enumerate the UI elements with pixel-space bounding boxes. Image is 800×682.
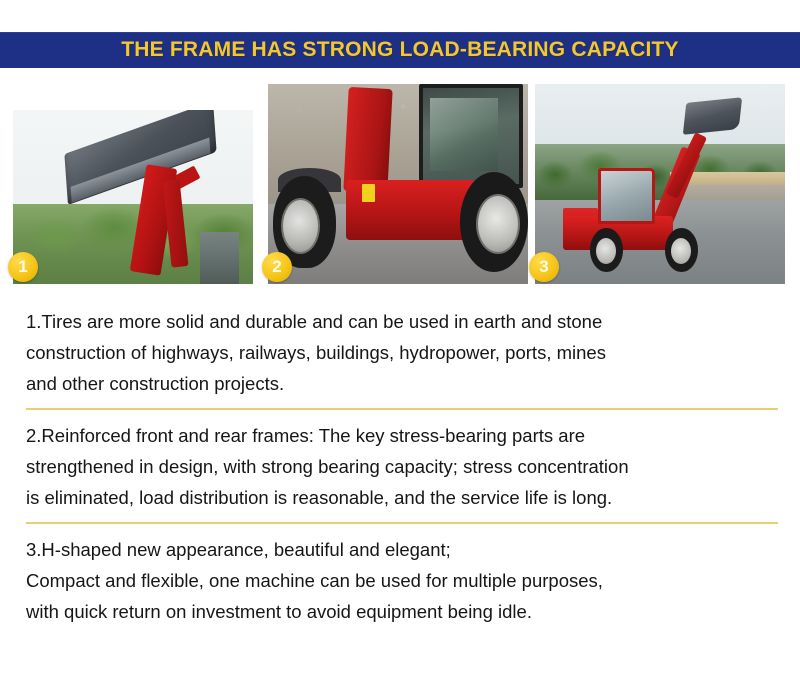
feature-line: 2.Reinforced front and rear frames: The … xyxy=(26,420,776,451)
photo-badge-3: 3 xyxy=(529,252,559,282)
photo3-bucket xyxy=(683,97,742,135)
product-photo-1 xyxy=(13,110,253,284)
feature-paragraph-tires: 1.Tires are more solid and durable and c… xyxy=(0,306,800,399)
photo2-rear-rim xyxy=(476,194,520,254)
product-photo-2 xyxy=(268,84,528,284)
page-title: THE FRAME HAS STRONG LOAD-BEARING CAPACI… xyxy=(121,38,679,62)
feature-paragraph-frames: 2.Reinforced front and rear frames: The … xyxy=(0,420,800,513)
photo2-front-rim xyxy=(281,198,320,254)
feature-line: construction of highways, railways, buil… xyxy=(26,337,776,368)
feature-line: with quick return on investment to avoid… xyxy=(26,596,776,627)
header-banner: THE FRAME HAS STRONG LOAD-BEARING CAPACI… xyxy=(0,32,800,68)
feature-line: Compact and flexible, one machine can be… xyxy=(26,565,776,596)
photo-badge-1: 1 xyxy=(8,252,38,282)
feature-line: strengthened in design, with strong bear… xyxy=(26,451,776,482)
divider-1 xyxy=(26,408,778,410)
feature-line: is eliminated, load distribution is reas… xyxy=(26,482,776,513)
photo1-cab xyxy=(200,232,238,284)
photo2-cab-glass xyxy=(430,98,497,171)
feature-line: 1.Tires are more solid and durable and c… xyxy=(26,306,776,337)
feature-line: and other construction projects. xyxy=(26,368,776,399)
photo2-cab xyxy=(419,84,523,188)
photo2-warning-sticker xyxy=(362,184,375,202)
feature-list: 1.Tires are more solid and durable and c… xyxy=(0,296,800,627)
feature-paragraph-appearance: 3.H-shaped new appearance, beautiful and… xyxy=(0,534,800,627)
photo2-boom xyxy=(343,87,393,193)
feature-line: 3.H-shaped new appearance, beautiful and… xyxy=(26,534,776,565)
product-photo-3 xyxy=(535,84,785,284)
photo-strip: 1 2 3 xyxy=(0,84,800,284)
photo-badge-2: 2 xyxy=(262,252,292,282)
product-feature-page: THE FRAME HAS STRONG LOAD-BEARING CAPACI… xyxy=(0,0,800,682)
photo3-cab xyxy=(598,168,656,224)
divider-2 xyxy=(26,522,778,524)
